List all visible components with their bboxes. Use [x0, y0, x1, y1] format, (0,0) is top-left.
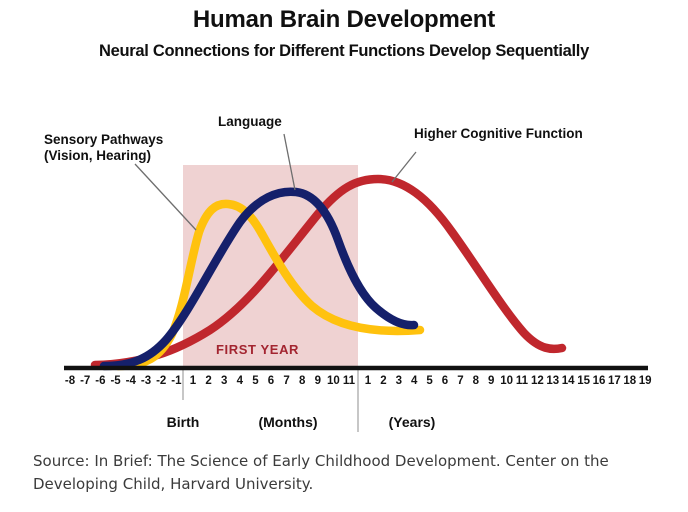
tick-month-11: 11 [343, 375, 355, 387]
tick-year-15: 15 [577, 375, 590, 387]
tick-year-4: 4 [411, 375, 417, 387]
tick-prenatal-minus3: -3 [141, 375, 151, 387]
tick-year-11: 11 [516, 375, 528, 387]
tick-year-8: 8 [473, 375, 479, 387]
annotation-language: Language [218, 114, 282, 130]
first-year-band-label: FIRST YEAR [216, 342, 299, 357]
period-label-birth: Birth [167, 414, 200, 430]
tick-prenatal-minus8: -8 [65, 375, 75, 387]
tick-year-14: 14 [562, 375, 575, 387]
tick-year-10: 10 [500, 375, 513, 387]
tick-month-9: 9 [315, 375, 321, 387]
tick-month-5: 5 [252, 375, 258, 387]
tick-month-1: 1 [190, 375, 196, 387]
tick-prenatal-minus2: -2 [156, 375, 166, 387]
period-label-years: (Years) [389, 414, 436, 430]
chart-figure: Human Brain Development Neural Connectio… [0, 0, 688, 512]
annotation-sensory-pathways: Sensory Pathways (Vision, Hearing) [44, 132, 163, 164]
tick-month-3: 3 [221, 375, 227, 387]
tick-year-9: 9 [488, 375, 494, 387]
tick-prenatal-minus1: -1 [171, 375, 181, 387]
tick-year-12: 12 [531, 375, 544, 387]
tick-month-6: 6 [268, 375, 274, 387]
tick-year-7: 7 [457, 375, 463, 387]
tick-month-7: 7 [283, 375, 289, 387]
tick-prenatal-minus6: -6 [95, 375, 105, 387]
tick-year-18: 18 [623, 375, 636, 387]
tick-month-2: 2 [205, 375, 211, 387]
tick-prenatal-minus7: -7 [80, 375, 90, 387]
tick-year-1: 1 [365, 375, 371, 387]
tick-month-4: 4 [237, 375, 243, 387]
period-label-months: (Months) [258, 414, 317, 430]
tick-prenatal-minus4: -4 [126, 375, 136, 387]
tick-month-10: 10 [327, 375, 340, 387]
tick-year-6: 6 [442, 375, 448, 387]
tick-year-2: 2 [380, 375, 386, 387]
tick-year-16: 16 [593, 375, 606, 387]
tick-year-5: 5 [426, 375, 432, 387]
tick-year-3: 3 [396, 375, 402, 387]
tick-year-17: 17 [608, 375, 621, 387]
tick-year-13: 13 [546, 375, 559, 387]
tick-year-19: 19 [639, 375, 652, 387]
tick-month-8: 8 [299, 375, 305, 387]
annotation-higher-cognitive-function: Higher Cognitive Function [414, 126, 583, 142]
source-note: Source: In Brief: The Science of Early C… [33, 450, 658, 496]
leader-line-cognitive [392, 152, 416, 182]
tick-prenatal-minus5: -5 [110, 375, 120, 387]
